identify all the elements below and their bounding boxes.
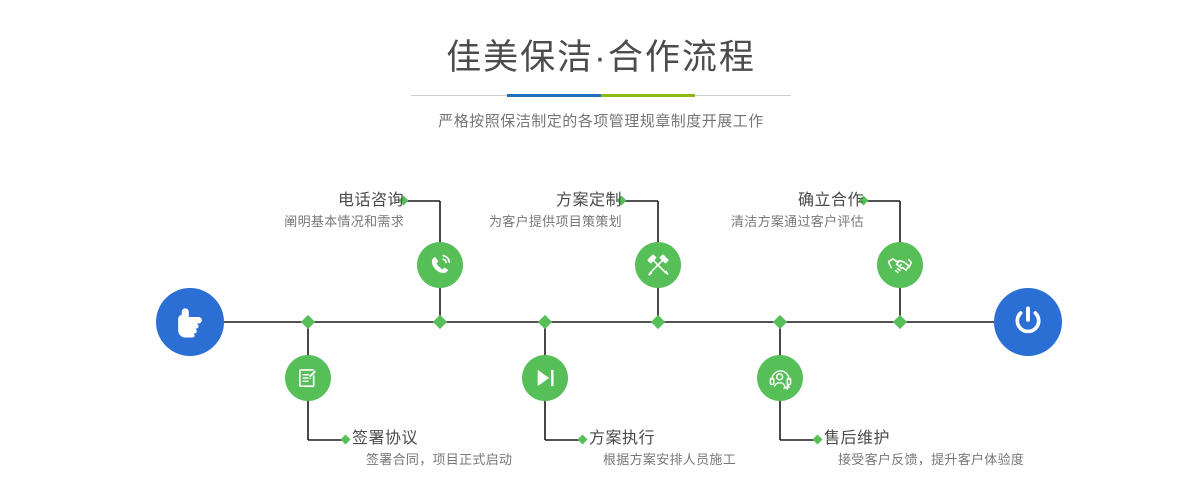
hand-point-right-icon	[171, 303, 209, 341]
flow-start-endpoint[interactable]	[156, 288, 224, 356]
step-icon-4[interactable]	[522, 355, 568, 401]
step-desc-3: 为客户提供项目策策划	[372, 212, 622, 232]
step-desc-6: 接受客户反馈，提升客户体验度	[824, 450, 1164, 470]
process-flow-diagram: 电话咨询 阐明基本情况和需求 签署协议 签署合同，项目正式启动	[0, 0, 1202, 502]
step-label-6: 售后维护 接受客户反馈，提升客户体验度	[824, 428, 1164, 470]
label-end-markers	[341, 196, 869, 445]
diamond-marker-6	[893, 315, 907, 329]
step-label-3: 方案定制 为客户提供项目策策划	[372, 190, 622, 232]
diamond-marker-3	[538, 315, 552, 329]
step-desc-5: 清洁方案通过客户评估	[614, 212, 864, 232]
pencil-design-icon	[645, 252, 671, 278]
step-title-3: 方案定制	[372, 190, 622, 212]
step-icon-2[interactable]	[285, 355, 331, 401]
step-icon-5[interactable]	[877, 242, 923, 288]
step-desc-1: 阐明基本情况和需求	[150, 212, 404, 232]
diamond-marker-2	[433, 315, 447, 329]
power-icon	[1010, 304, 1046, 340]
document-edit-icon	[295, 365, 321, 391]
phone-call-icon	[427, 252, 453, 278]
flow-connectors	[0, 0, 1202, 502]
step-title-5: 确立合作	[614, 190, 864, 212]
play-execute-icon	[532, 365, 558, 391]
diamond-marker-5	[773, 315, 787, 329]
diamond-marker-4	[651, 315, 665, 329]
step-icon-1[interactable]	[417, 242, 463, 288]
step-icon-3[interactable]	[635, 242, 681, 288]
diamond-label-2	[341, 435, 351, 445]
step-icon-6[interactable]	[757, 355, 803, 401]
step-label-5: 确立合作 清洁方案通过客户评估	[614, 190, 864, 232]
flow-end-endpoint[interactable]	[994, 288, 1062, 356]
step-title-1: 电话咨询	[150, 190, 404, 212]
handshake-icon	[886, 251, 914, 279]
step-title-6: 售后维护	[824, 428, 1164, 450]
headset-support-icon	[767, 365, 794, 392]
diamond-marker-1	[301, 315, 315, 329]
step-label-1: 电话咨询 阐明基本情况和需求	[150, 190, 404, 232]
